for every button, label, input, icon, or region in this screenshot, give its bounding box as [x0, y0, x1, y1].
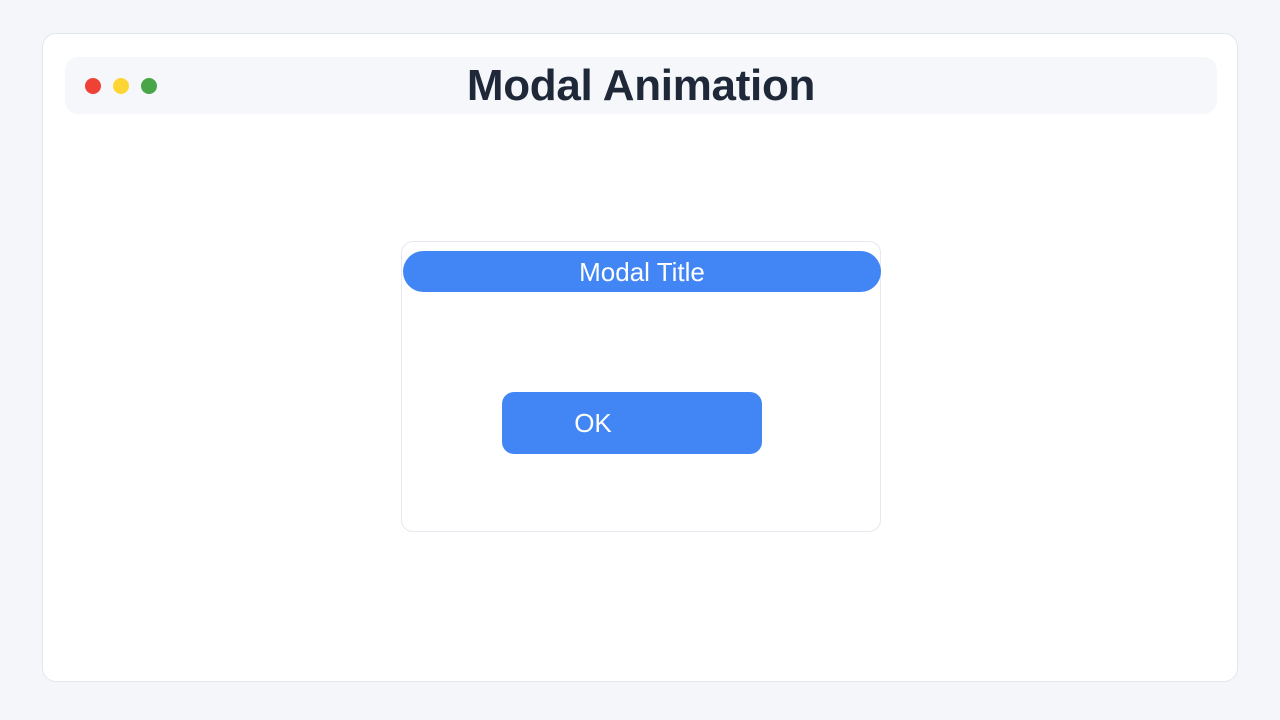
- maximize-window-icon[interactable]: [141, 78, 157, 94]
- minimize-window-icon[interactable]: [113, 78, 129, 94]
- ok-button[interactable]: OK: [502, 392, 762, 454]
- modal-title: Modal Title: [579, 259, 705, 285]
- modal-header: Modal Title: [403, 251, 881, 292]
- ok-button-label: OK: [574, 392, 612, 454]
- modal-stage: OK Modal Title: [43, 114, 1237, 681]
- page-title: Modal Animation: [65, 64, 1217, 108]
- modal-content-area: OK: [402, 293, 880, 531]
- app-window: Modal Animation OK Modal Title: [42, 33, 1238, 682]
- window-titlebar: Modal Animation: [65, 57, 1217, 114]
- traffic-light-controls: [85, 78, 157, 94]
- modal-dialog: OK Modal Title: [401, 241, 881, 532]
- close-window-icon[interactable]: [85, 78, 101, 94]
